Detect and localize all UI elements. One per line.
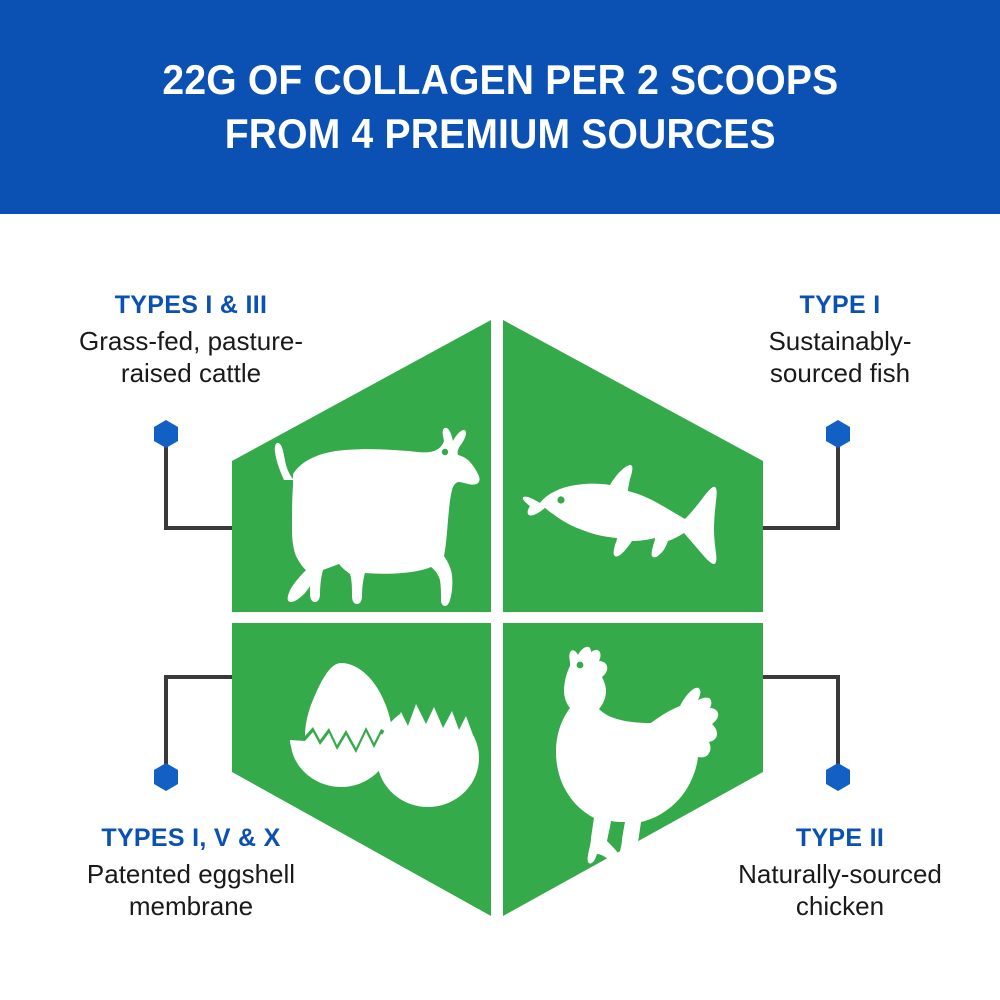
- callout-bottom-right: TYPE II Naturally-sourced chicken: [690, 823, 990, 922]
- callout-description-top-right: Sustainably- sourced fish: [690, 326, 990, 389]
- hexagon-marker-bottom-left: [154, 763, 178, 791]
- callout-description-line-2: raised cattle: [121, 358, 261, 388]
- hexagon-marker-top-right: [826, 420, 850, 448]
- callout-bottom-left: TYPES I, V & X Patented eggshell membran…: [41, 823, 341, 922]
- callout-description-bottom-left: Patented eggshell membrane: [41, 859, 341, 922]
- callout-title-top-right: TYPE I: [690, 290, 990, 320]
- callout-description-bottom-right: Naturally-sourced chicken: [690, 859, 990, 922]
- callout-description-line-1: Patented eggshell: [87, 859, 295, 889]
- callout-description-line-1: Grass-fed, pasture-: [79, 326, 303, 356]
- callout-description-line-1: Sustainably-: [768, 326, 911, 356]
- leader-line-top-right: [755, 446, 838, 528]
- callout-description-line-1: Naturally-sourced: [738, 859, 942, 889]
- hexagon-marker-bottom-right: [826, 763, 850, 791]
- callout-top-left: TYPES I & III Grass-fed, pasture- raised…: [41, 290, 341, 389]
- callout-title-top-left: TYPES I & III: [41, 290, 341, 320]
- callout-title-bottom-left: TYPES I, V & X: [41, 823, 341, 853]
- callout-description-line-2: sourced fish: [770, 358, 910, 388]
- hexagon-marker-top-left: [154, 420, 178, 448]
- callout-description-line-2: membrane: [129, 891, 253, 921]
- callout-title-bottom-right: TYPE II: [690, 823, 990, 853]
- callout-description-line-2: chicken: [796, 891, 884, 921]
- callout-top-right: TYPE I Sustainably- sourced fish: [690, 290, 990, 389]
- collagen-sources-infographic: 22G OF COLLAGEN PER 2 SCOOPS FROM 4 PREM…: [0, 0, 1000, 1000]
- leader-line-bottom-right: [755, 677, 838, 765]
- callout-description-top-left: Grass-fed, pasture- raised cattle: [41, 326, 341, 389]
